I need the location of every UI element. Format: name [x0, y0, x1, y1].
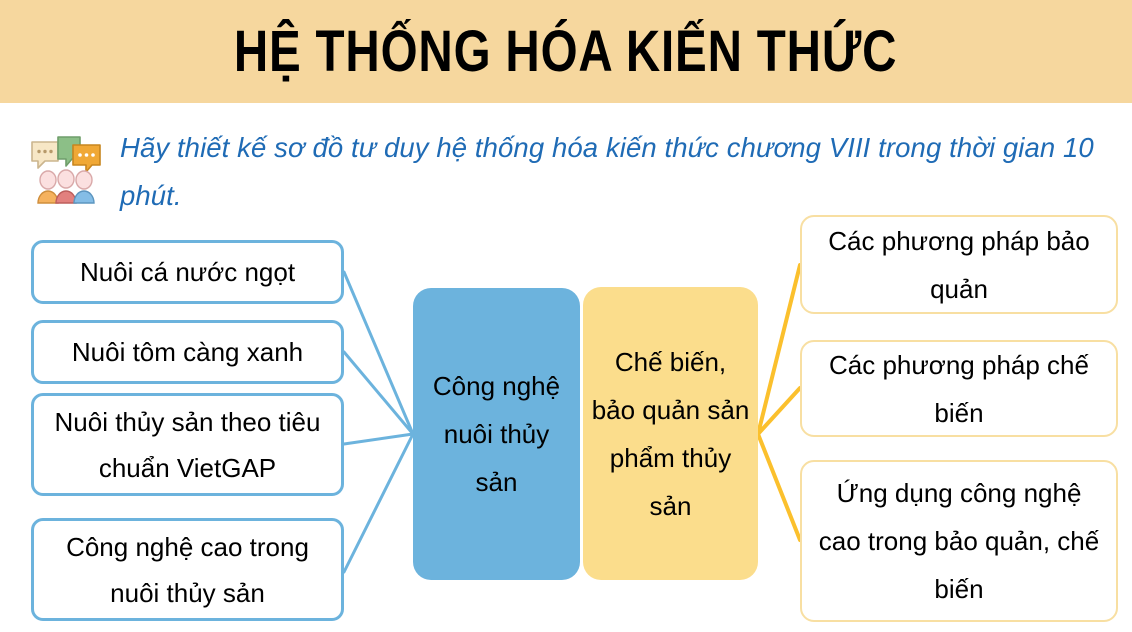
node-right-2-label: Các phương pháp chế biến — [814, 341, 1104, 437]
page-title: HỆ THỐNG HÓA KIẾN THỨC — [234, 23, 897, 81]
node-left-2[interactable]: Nuôi tôm càng xanh — [31, 320, 344, 384]
node-right-1-label: Các phương pháp bảo quản — [814, 217, 1104, 313]
left-connectors — [344, 272, 413, 572]
instruction-text: Hãy thiết kế sơ đồ tư duy hệ thống hóa k… — [120, 124, 1130, 220]
node-right-3[interactable]: Ứng dụng công nghệ cao trong bảo quản, c… — [800, 460, 1118, 622]
node-left-3-label: Nuôi thủy sản theo tiêu chuẩn VietGAP — [44, 399, 331, 491]
node-right-3-label: Ứng dụng công nghệ cao trong bảo quản, c… — [814, 469, 1104, 613]
node-right-2[interactable]: Các phương pháp chế biến — [800, 340, 1118, 437]
node-left-1-label: Nuôi cá nước ngọt — [80, 249, 295, 295]
node-center-yellow-label: Chế biến, bảo quản sản phẩm thủy sản — [591, 338, 750, 530]
node-left-3[interactable]: Nuôi thủy sản theo tiêu chuẩn VietGAP — [31, 393, 344, 496]
right-connectors — [758, 265, 800, 540]
node-left-2-label: Nuôi tôm càng xanh — [72, 329, 303, 375]
node-center-yellow[interactable]: Chế biến, bảo quản sản phẩm thủy sản — [583, 287, 758, 580]
node-center-blue[interactable]: Công nghệ nuôi thủy sản — [413, 288, 580, 580]
node-left-4-label: Công nghệ cao trong nuôi thủy sản — [44, 524, 331, 616]
slide-root: HỆ THỐNG HÓA KIẾN THỨC Hãy th — [0, 0, 1132, 632]
node-left-4[interactable]: Công nghệ cao trong nuôi thủy sản — [31, 518, 344, 621]
header-banner: HỆ THỐNG HÓA KIẾN THỨC — [0, 0, 1132, 103]
instruction-row: Hãy thiết kế sơ đồ tư duy hệ thống hóa k… — [22, 122, 1127, 222]
discussion-group-icon — [28, 130, 104, 206]
node-center-blue-label: Công nghệ nuôi thủy sản — [421, 362, 572, 506]
node-left-1[interactable]: Nuôi cá nước ngọt — [31, 240, 344, 304]
node-right-1[interactable]: Các phương pháp bảo quản — [800, 215, 1118, 314]
